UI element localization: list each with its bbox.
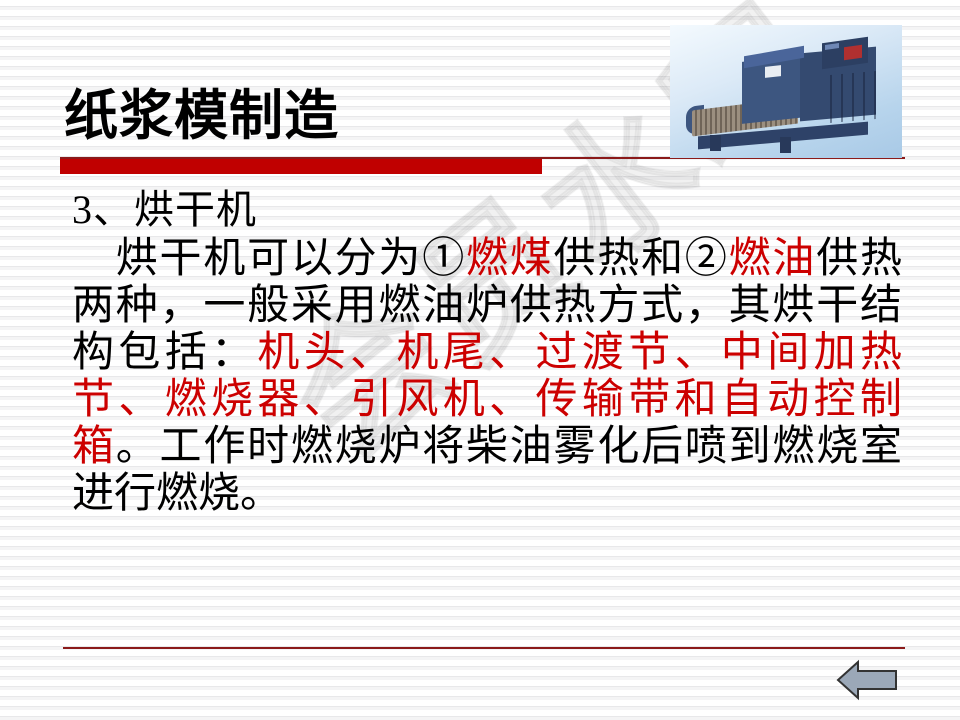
machine-nameplate [765,65,781,78]
section-heading: 3、烘干机 [72,186,922,234]
back-navigation-button[interactable] [836,658,898,702]
page-title: 纸浆模制造 [64,84,339,148]
paragraph-run-3: 燃油 [729,236,817,282]
footer-horizontal-rule [63,647,905,649]
slide-canvas: 会员水印 纸浆模制造 3、烘干机 烘干机可以分为①燃煤供热和②燃油供热两种，一般… [0,0,960,720]
title-accent-bar [60,159,542,174]
paragraph-run-1: 燃煤 [466,236,554,282]
paragraph-run-6: 。工作时燃烧炉将柴油雾化后喷到燃烧室进行燃烧。 [72,424,902,517]
content-text-block: 3、烘干机 烘干机可以分为①燃煤供热和②燃油供热两种，一般采用燃油炉供热方式，其… [72,186,922,518]
machine-leg-left [710,135,721,151]
dryer-machine-photo [670,25,902,158]
body-paragraph: 烘干机可以分为①燃煤供热和②燃油供热两种，一般采用燃油炉供热方式，其烘干结构包括… [72,236,902,518]
paragraph-run-0: 烘干机可以分为① [114,236,466,282]
machine-ribs [830,71,876,123]
left-arrow-icon[interactable] [836,658,898,702]
paragraph-runs: 烘干机可以分为①燃煤供热和②燃油供热两种，一般采用燃油炉供热方式，其烘干结构包括… [72,236,902,517]
control-panel-display [844,45,862,61]
machine-leg-right [780,137,791,153]
paragraph-run-2: 供热和② [554,236,729,282]
